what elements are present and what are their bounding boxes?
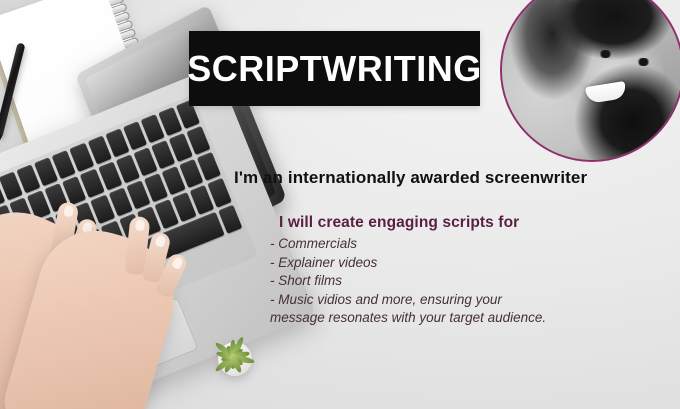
pitch-service-list: - Commercials- Explainer videos- Short f… bbox=[270, 235, 620, 328]
pitch-list-item: - Commercials bbox=[270, 235, 620, 254]
pitch-list-item: - Music vidios and more, ensuring your m… bbox=[270, 291, 620, 328]
avatar-photo bbox=[502, 0, 680, 160]
title-banner: SCRIPTWRITING bbox=[189, 31, 480, 106]
green-succulent-plant bbox=[212, 336, 258, 384]
avatar-eye bbox=[636, 58, 651, 66]
title-text: SCRIPTWRITING bbox=[187, 51, 481, 87]
pitch-list-item: - Explainer videos bbox=[270, 254, 620, 273]
subtitle-text: I'm an internationally awarded screenwri… bbox=[234, 168, 587, 188]
gig-thumbnail-canvas: SCRIPTWRITING I'm an internationally awa… bbox=[0, 0, 680, 409]
pitch-heading: I will create engaging scripts for bbox=[279, 214, 519, 232]
avatar bbox=[500, 0, 680, 162]
avatar-eye bbox=[598, 50, 613, 58]
pitch-list-item: - Short films bbox=[270, 272, 620, 291]
